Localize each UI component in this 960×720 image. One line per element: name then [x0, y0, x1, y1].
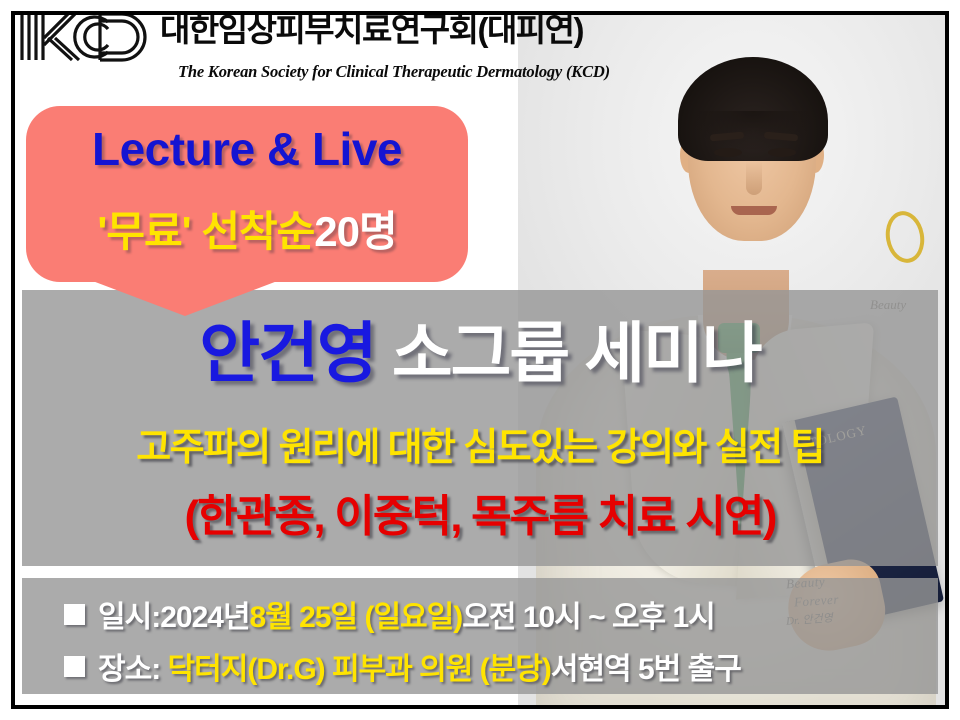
- bullet-square-icon: [64, 604, 85, 625]
- photo-nose: [746, 161, 762, 195]
- badge-free-label: '무료' 선착순: [97, 208, 314, 255]
- main-title-panel: 안건영 소그룹 세미나 고주파의 원리에 대한 심도있는 강의와 실전 팁 (한…: [22, 290, 938, 566]
- seminar-poster: TOLOGY Beauty Forever Dr. 안건영 Beauty: [0, 0, 960, 720]
- org-name-ko-wrapper: 대한임상피부치료연구회(대피연): [160, 8, 583, 52]
- photo-eye-right: [768, 148, 796, 157]
- org-name-ko: 대한임상피부치료연구회(대피연): [160, 8, 583, 52]
- bullet-square-icon: [64, 656, 85, 677]
- badge-lecture-live-label: Lecture & Live: [26, 122, 468, 176]
- speaker-name: 안건영: [199, 316, 375, 390]
- seminar-title: 안건영 소그룹 세미나: [22, 316, 938, 390]
- badge-bubble-tail: [90, 280, 280, 316]
- event-date-row: ■ 일시: 일시: 2024년 8월 25일 (일요일) 오전 10시 ~ 오후…: [64, 592, 715, 636]
- venue-label-text: 장소:: [98, 644, 168, 688]
- event-info-panel: ■ 일시: 일시: 2024년 8월 25일 (일요일) 오전 10시 ~ 오후…: [22, 578, 938, 694]
- badge-seat-count: 20명: [314, 208, 396, 255]
- date-highlight: 8월 25일 (일요일): [250, 592, 463, 636]
- free-lecture-badge: Lecture & Live '무료' 선착순20명: [26, 106, 468, 282]
- seminar-type-label: 소그룹 세미나: [376, 316, 761, 390]
- org-name-en: The Korean Society for Clinical Therapeu…: [178, 62, 610, 82]
- event-venue-row: ■ 장소: 장소: 닥터지(Dr.G) 피부과 의원 (분당) 서현역 5번 출…: [64, 644, 741, 688]
- badge-free-line: '무료' 선착순20명: [26, 198, 468, 259]
- photo-mouth: [731, 206, 777, 215]
- seminar-subtitle-demo: (한관종, 이중턱, 목주름 치료 시연): [22, 480, 938, 544]
- venue-suffix: 서현역 5번 출구: [551, 644, 741, 688]
- date-prefix: 2024년: [160, 592, 249, 636]
- seminar-subtitle-topic: 고주파의 원리에 대한 심도있는 강의와 실전 팁: [22, 416, 938, 471]
- date-label-text: 일시:: [98, 592, 160, 636]
- date-suffix: 오전 10시 ~ 오후 1시: [462, 592, 715, 636]
- kcd-logo-icon: [16, 6, 152, 68]
- org-name-en-wrapper: The Korean Society for Clinical Therapeu…: [178, 62, 610, 82]
- photo-eye-left: [714, 148, 742, 157]
- venue-highlight: 닥터지(Dr.G) 피부과 의원 (분당): [168, 644, 551, 688]
